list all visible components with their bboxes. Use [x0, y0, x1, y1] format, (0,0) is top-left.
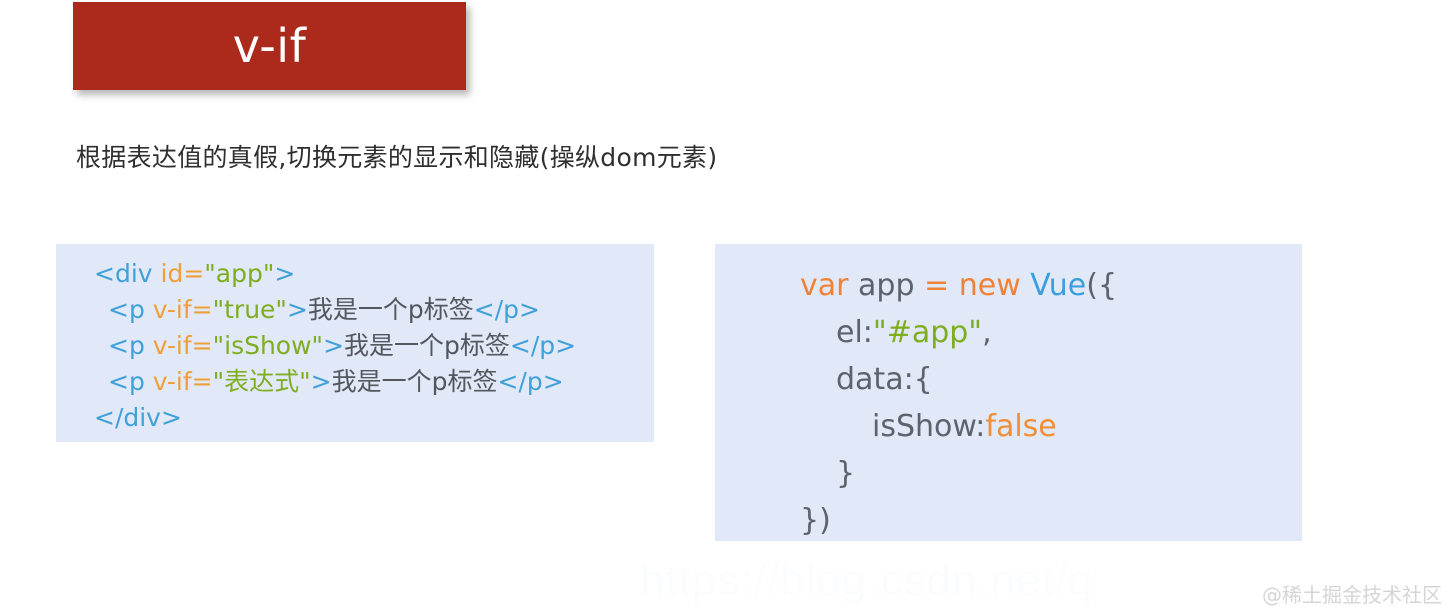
code-block-javascript: var app = new Vue({el:"#app",data:{isSho… — [715, 244, 1302, 541]
subtitle-description: 根据表达值的真假,切换元素的显示和隐藏(操纵dom元素) — [76, 138, 717, 174]
code-token: v-if — [153, 295, 192, 324]
code-token: "isShow" — [213, 331, 323, 360]
code-token: = — [924, 268, 959, 303]
code-token: el: — [836, 315, 873, 350]
code-token: "#app" — [873, 315, 982, 350]
code-token: = — [183, 259, 204, 288]
code-token: </p> — [510, 331, 576, 360]
code-token: > — [311, 367, 332, 396]
code-token: > — [274, 259, 295, 288]
code-line: isShow:false — [800, 403, 1302, 450]
code-line: <p v-if="表达式">我是一个p标签</p> — [94, 364, 654, 400]
code-token: , — [982, 315, 992, 350]
code-token: = — [192, 295, 213, 324]
code-line: <p v-if="isShow">我是一个p标签</p> — [94, 328, 654, 364]
code-token: = — [192, 367, 213, 396]
code-token: <p — [108, 367, 153, 396]
code-token: "表达式" — [213, 367, 311, 396]
code-token: "true" — [213, 295, 287, 324]
code-token: data:{ — [836, 362, 933, 397]
code-token: isShow: — [872, 409, 985, 444]
code-token: ({ — [1086, 268, 1117, 303]
code-token: } — [836, 456, 855, 491]
watermark-url: https://blog.csdn.net/q — [640, 556, 1094, 606]
code-token: 我是一个p标签 — [344, 331, 510, 360]
code-line: </div> — [94, 400, 654, 436]
code-line: } — [800, 450, 1302, 497]
code-line: <p v-if="true">我是一个p标签</p> — [94, 292, 654, 328]
code-token: > — [287, 295, 308, 324]
code-token: 我是一个p标签 — [308, 295, 474, 324]
code-token: </p> — [474, 295, 540, 324]
code-token: 我是一个p标签 — [332, 367, 498, 396]
code-token: "app" — [204, 259, 274, 288]
code-token: false — [985, 409, 1056, 444]
code-token: <p — [108, 331, 153, 360]
code-line: data:{ — [800, 356, 1302, 403]
code-line: var app = new Vue({ — [800, 262, 1302, 309]
code-token: <p — [108, 295, 153, 324]
page-title: v-if — [233, 23, 307, 69]
code-token: = — [192, 331, 213, 360]
code-line: el:"#app", — [800, 309, 1302, 356]
code-token: v-if — [153, 367, 192, 396]
code-token: }) — [800, 503, 831, 538]
code-token: </div> — [94, 403, 182, 432]
code-token: v-if — [153, 331, 192, 360]
watermark-brand: @稀土掘金技术社区 — [1262, 579, 1442, 608]
code-token: > — [323, 331, 344, 360]
code-block-html: <div id="app"><p v-if="true">我是一个p标签</p>… — [56, 244, 654, 442]
code-token: app — [858, 268, 924, 303]
title-banner: v-if — [73, 2, 466, 90]
code-token: id — [161, 259, 184, 288]
code-line: <div id="app"> — [94, 256, 654, 292]
code-line: }) — [800, 497, 1302, 544]
code-token: </p> — [497, 367, 563, 396]
code-token: <div — [94, 259, 161, 288]
code-token: var — [800, 268, 858, 303]
code-token: new — [959, 268, 1031, 303]
code-token: Vue — [1030, 268, 1086, 303]
